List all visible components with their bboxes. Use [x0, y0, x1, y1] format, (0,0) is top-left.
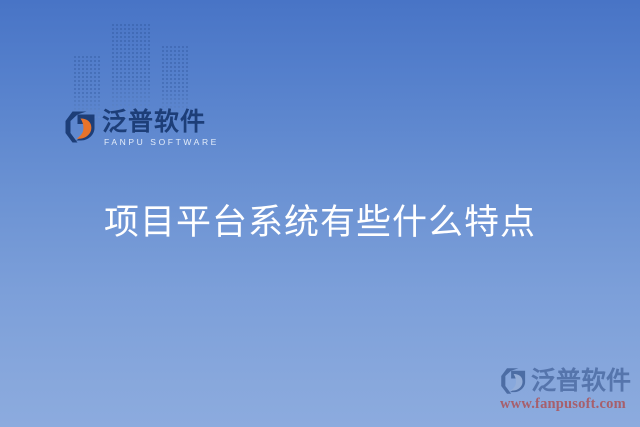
brand-name-en: FANPU SOFTWARE — [104, 137, 219, 148]
pixel-cityscape-graphic — [74, 24, 190, 118]
promo-banner: 泛普软件 FANPU SOFTWARE 项目平台系统有些什么特点 泛普软件 ww… — [0, 0, 640, 427]
watermark-url: www.fanpusoft.com — [500, 395, 626, 413]
brand-logo: 泛普软件 FANPU SOFTWARE — [64, 107, 194, 157]
watermark-brand-name: 泛普软件 — [531, 367, 631, 395]
page-title: 项目平台系统有些什么特点 — [0, 201, 640, 245]
cityscape-building-middle — [112, 24, 152, 118]
fanpu-logo-mark — [64, 110, 98, 144]
watermark-logo-row: 泛普软件 — [500, 367, 631, 395]
fanpu-watermark-mark — [500, 367, 528, 395]
brand-name-cn: 泛普软件 — [102, 107, 206, 137]
watermark: 泛普软件 www.fanpusoft.com — [496, 365, 638, 417]
